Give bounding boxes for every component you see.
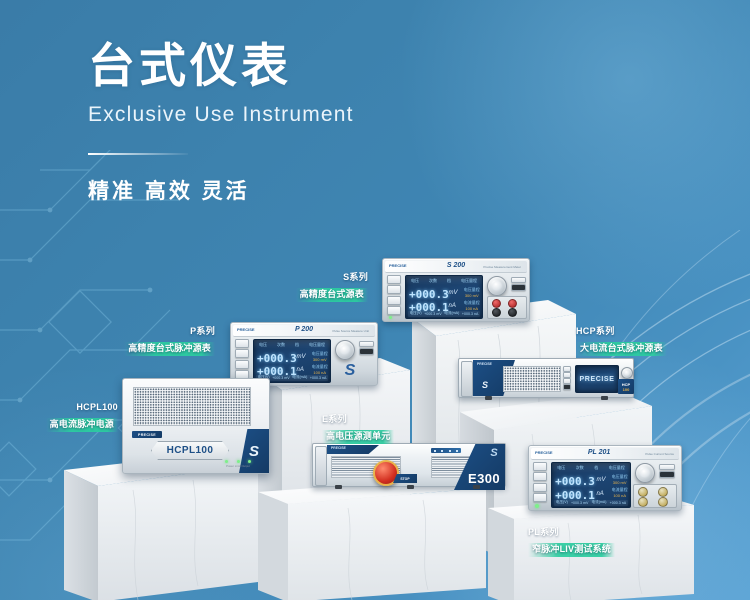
pedestal-hcpl (58, 452, 258, 600)
device-pl-series[interactable]: PRECISE PL 201 Pulse Current Source 电压 次… (528, 445, 682, 511)
callout-desc: 高电压源测单元 (322, 430, 394, 443)
callout-hcp-series: HCP系列 大电流台式脉冲源表 (576, 326, 706, 357)
page-subtitle-en: Exclusive Use Instrument (88, 103, 518, 127)
primary-reading: +000.3 (257, 352, 297, 365)
device-e-series[interactable]: PRECISE STOP E300 S (312, 443, 506, 487)
connector-panel[interactable] (633, 484, 677, 508)
footer-value-1: +000.3 mV (571, 501, 588, 505)
output-button[interactable] (533, 493, 547, 502)
callout-pl-series: PL系列 窄脉冲LIV测试系统 (528, 527, 658, 558)
callout-desc: 大电流台式脉冲源表 (576, 342, 667, 355)
tab-3[interactable]: 电压量程 (461, 278, 477, 284)
callout-hcpl100: HCPL100 高电流脉冲电源 (0, 402, 118, 433)
terminal-panel[interactable] (487, 296, 527, 319)
air-grille (503, 366, 561, 392)
brand-label: PRECISE (138, 433, 156, 437)
model-badge: HCP 100 (618, 379, 634, 394)
screen-footer: 电压(V) +000.3 mV 电流(mA) +000.3 nA (408, 311, 479, 317)
page-title: 台式仪表 (88, 40, 518, 93)
rack-usb-port[interactable] (563, 384, 571, 390)
display-screen[interactable]: 电压 次数 档 电压量程 +000.3 mV +000.1 nA 电压量程 30… (551, 462, 631, 508)
device-hcpl100[interactable]: PRECISE S HCPL100 Power Limit Output (122, 378, 270, 474)
callout-series: HCPL100 (0, 402, 118, 413)
rack-ear-left (461, 361, 473, 397)
precise-logo-icon: S (339, 361, 361, 381)
setting-button[interactable] (533, 472, 547, 481)
tab-3[interactable]: 电压量程 (309, 342, 325, 348)
callout-desc: 高精度台式源表 (296, 288, 368, 301)
stop-label-plate: STOP (393, 474, 417, 483)
power-led (535, 504, 539, 508)
primary-unit: mV (449, 290, 458, 296)
callout-series: HCP系列 (576, 326, 706, 337)
port-label: Power Limit Output (221, 464, 255, 468)
model-label: S 200 (447, 262, 465, 269)
range1-value: 300 mV (464, 293, 480, 299)
primary-reading: +000.3 (555, 475, 595, 488)
page-tagline: 精准 高效 灵活 (88, 175, 518, 205)
callout-series: S系列 (258, 272, 368, 283)
callout-series: E系列 (322, 414, 452, 425)
range-readouts: 电压量程 300 mV 电流量程 100 nA (312, 351, 328, 377)
aux-slot[interactable] (659, 471, 675, 478)
display-screen[interactable]: 电压 次数 档 电压量程 +000.3 mV +000.1 nA 电压量程 30… (405, 275, 483, 319)
footer-value-1: +000.3 mV (424, 312, 441, 316)
footer-value-1: +000.3 mV (272, 376, 289, 380)
model-label: HCPL100 (167, 445, 214, 456)
model-label: E300 (468, 471, 500, 486)
brand-badge: PRECISE (132, 431, 162, 438)
brand-label: PRECISE (331, 446, 346, 450)
range1-value: 300 mV (612, 480, 628, 486)
bnc-connector-1[interactable] (638, 487, 648, 497)
callout-desc: 窄脉冲LIV测试系统 (528, 543, 615, 556)
tab-0[interactable]: 电压 (259, 342, 267, 348)
rotary-knob[interactable] (621, 367, 633, 379)
primary-reading: +000.3 (409, 288, 449, 301)
range2-value: 100 nA (612, 493, 628, 499)
button-column[interactable] (387, 275, 401, 315)
button-column[interactable] (533, 462, 547, 502)
device-p-series[interactable]: PRECISE P 200 Pulse Source Measure Unit … (230, 322, 378, 386)
stop-label: STOP (400, 477, 409, 481)
trigger-button[interactable] (533, 483, 547, 492)
tab-2[interactable]: 档 (447, 278, 451, 284)
callout-p-series: P系列 高精度台式脉冲源表 (105, 326, 215, 357)
terminal-lo-black[interactable] (508, 308, 517, 317)
device-hcp-series[interactable]: PRECISE S PRECISE HCP 100 (458, 358, 634, 398)
model-label: P 200 (295, 326, 313, 333)
range-readouts: 电压量程 300 mV 电流量程 100 nA (464, 287, 480, 313)
model-plate: HCPL100 (151, 441, 229, 460)
range-readouts: 电压量程 300 mV 电流量程 100 nA (612, 474, 628, 500)
rotary-knob[interactable] (335, 340, 355, 360)
display-screen[interactable]: 电压 次数 档 电压量程 +000.3 mV +000.1 nA 电压量程 30… (253, 339, 331, 383)
brand-label: PRECISE (535, 450, 553, 455)
rack-foot-left (485, 396, 492, 400)
footer-label-2: 电流(mA) (292, 375, 307, 380)
model-label: PL 201 (588, 449, 610, 456)
callout-e-series: E系列 高电压源测单元 (322, 414, 452, 445)
model-sub-label: Pulse Current Source (645, 452, 674, 456)
brand-label: PRECISE (477, 362, 492, 366)
callout-series: P系列 (105, 326, 215, 337)
aux-slot[interactable] (359, 348, 374, 355)
aux-slot[interactable] (511, 284, 526, 291)
rack-foot-left (335, 485, 342, 489)
footer-value-2: +000.3 nA (462, 312, 479, 316)
callout-desc: 高精度台式脉冲源表 (124, 342, 215, 355)
indicator-strip (431, 448, 461, 453)
usb-slot[interactable] (359, 341, 374, 347)
badge-sub-label: 100 (623, 387, 630, 392)
footer-label-2: 电流(mA) (592, 500, 607, 505)
air-grille (133, 387, 251, 426)
tab-0[interactable]: 电压 (557, 465, 565, 471)
tab-2[interactable]: 档 (594, 465, 598, 471)
secondary-unit: nA (596, 491, 603, 497)
output-indicator-group: Power Limit Output (221, 460, 255, 468)
rack-foot-right (601, 396, 608, 400)
callout-desc: 高电流脉冲电源 (46, 418, 118, 431)
screen-tabs: 电压 次数 档 电压量程 (552, 463, 630, 473)
footer-value-2: +000.3 nA (310, 376, 327, 380)
device-s-series[interactable]: PRECISE S 200 Precise Measurement Meter … (382, 258, 530, 322)
model-sub-label: Pulse Source Measure Unit (332, 329, 369, 333)
bnc-connector-2[interactable] (658, 487, 668, 497)
pedestal-e (258, 478, 486, 600)
model-sub-label: Precise Measurement Meter (483, 265, 521, 269)
display-screen[interactable]: PRECISE (575, 365, 619, 393)
screen-tabs: 电压 次数 档 电压量程 (254, 340, 330, 349)
usb-slot[interactable] (659, 464, 675, 470)
footer-label-1: 电压(V) (556, 500, 568, 505)
usb-slot[interactable] (511, 277, 526, 283)
footer-label-2: 电流(mA) (444, 311, 459, 316)
secondary-unit: nA (449, 303, 456, 309)
precise-logo-icon: S (479, 379, 491, 391)
precise-logo-icon: S (487, 446, 501, 460)
bnc-connector-3[interactable] (638, 497, 648, 507)
tab-2[interactable]: 档 (295, 342, 299, 348)
divider (88, 153, 188, 155)
terminal-hi-black[interactable] (492, 308, 501, 317)
rack-foot-right (473, 485, 480, 489)
headline-block: 台式仪表 Exclusive Use Instrument 精准 高效 灵活 (88, 40, 518, 205)
button-column[interactable] (563, 366, 571, 390)
callout-s-series: S系列 高精度台式源表 (258, 272, 368, 303)
menu-button[interactable] (235, 339, 249, 348)
tab-1[interactable]: 次数 (277, 342, 285, 348)
menu-button[interactable] (387, 275, 401, 284)
rack-foot-mid (407, 485, 414, 489)
terminal-lo-red[interactable] (508, 299, 517, 308)
trigger-button[interactable] (387, 296, 401, 305)
bnc-connector-4[interactable] (658, 497, 668, 507)
tab-1[interactable]: 次数 (429, 278, 437, 284)
trigger-button[interactable] (235, 360, 249, 369)
setting-button[interactable] (387, 285, 401, 294)
power-led (389, 316, 392, 319)
menu-button[interactable] (533, 462, 547, 471)
primary-unit: mV (297, 354, 306, 360)
screen-tabs: 电压 次数 档 电压量程 (406, 276, 482, 285)
callout-series: PL系列 (528, 527, 658, 538)
rotary-knob[interactable] (487, 276, 507, 296)
button-column[interactable] (235, 339, 249, 379)
rack-ear-left (315, 446, 327, 486)
banner-stage: 台式仪表 Exclusive Use Instrument 精准 高效 灵活 (0, 0, 750, 600)
brand-label: PRECISE (389, 263, 407, 268)
screen-brand-text: PRECISE (576, 366, 618, 392)
brand-label: PRECISE (237, 327, 255, 332)
footer-label-1: 电压(V) (410, 311, 422, 316)
tab-1[interactable]: 次数 (576, 465, 584, 471)
rotary-knob[interactable] (635, 463, 655, 483)
footer-value-2: +000.3 nA (610, 501, 627, 505)
setting-button[interactable] (235, 349, 249, 358)
tab-3[interactable]: 电压量程 (609, 465, 625, 471)
output-button[interactable] (387, 306, 401, 315)
primary-unit: mV (596, 477, 605, 483)
screen-footer: 电压(V) +000.3 mV 电流(mA) +000.3 nA (554, 500, 627, 506)
range1-value: 300 mV (312, 357, 328, 363)
terminal-hi-red[interactable] (492, 299, 501, 308)
secondary-unit: nA (297, 367, 304, 373)
tab-0[interactable]: 电压 (411, 278, 419, 284)
